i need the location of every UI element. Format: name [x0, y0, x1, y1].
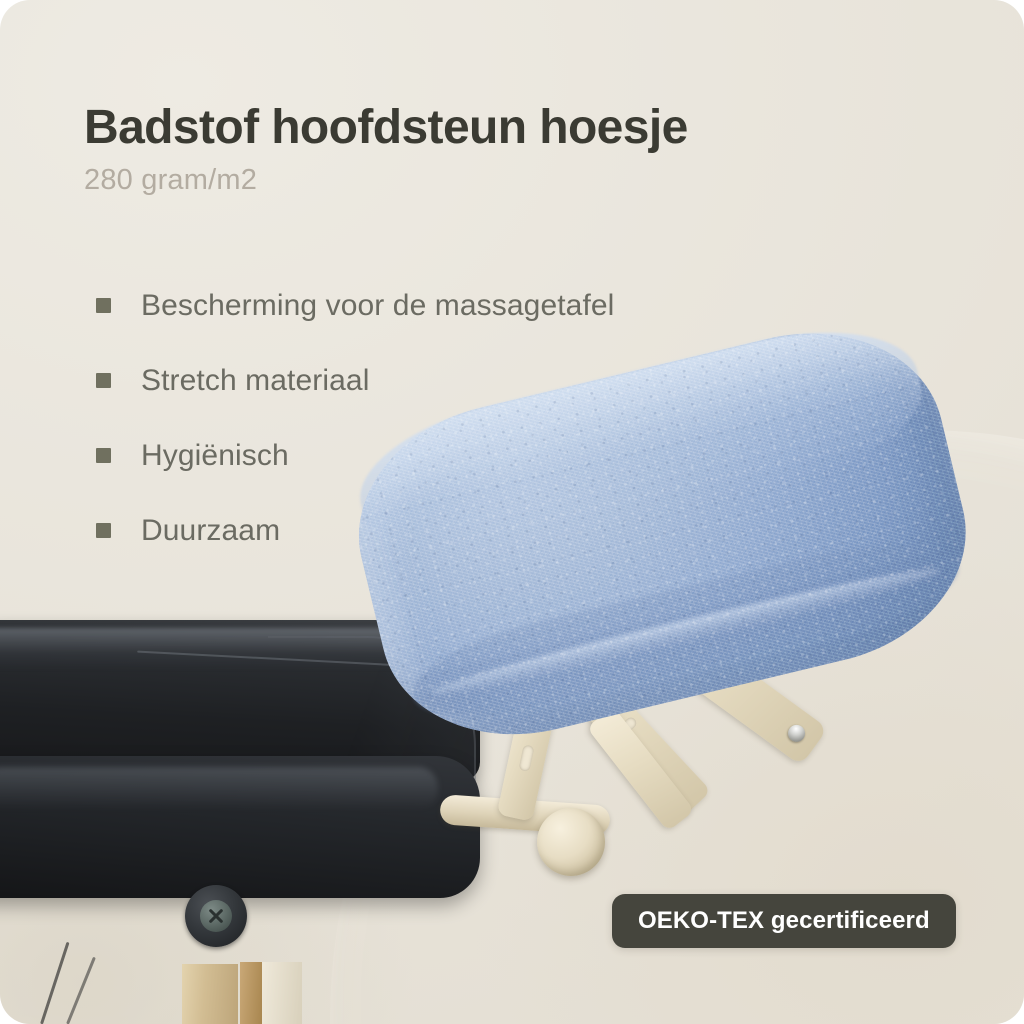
product-card: Badstof hoofdsteun hoesje 280 gram/m2 Be…	[0, 0, 1024, 1024]
feature-label: Duurzaam	[141, 516, 280, 546]
bracket-slot	[529, 695, 545, 723]
bracket-arm-lower	[587, 707, 695, 832]
massage-table-side	[0, 756, 480, 898]
bracket-arm-front	[497, 632, 571, 821]
certification-badge-label: OEKO-TEX gecertificeerd	[638, 907, 930, 935]
bracket-crossbar	[439, 794, 611, 836]
bracket-screw-icon	[564, 665, 588, 689]
bullet-square-icon	[96, 373, 111, 388]
table-side-highlight	[0, 767, 438, 810]
bullet-square-icon	[96, 448, 111, 463]
table-seam	[137, 650, 459, 669]
feature-label: Hygiënisch	[141, 441, 289, 471]
bullet-square-icon	[96, 298, 111, 313]
bolt-screw-head	[200, 900, 232, 932]
plate-groove	[491, 573, 797, 650]
table-bolt-icon	[185, 885, 247, 947]
massage-table-top	[0, 620, 480, 782]
header-block: Badstof hoofdsteun hoesje 280 gram/m2	[84, 104, 874, 197]
bracket-screw-icon	[785, 722, 809, 746]
page-subtitle: 280 gram/m2	[84, 165, 874, 197]
table-end-stitch	[268, 636, 476, 890]
wooden-leg	[240, 962, 262, 1024]
table-top-highlight	[0, 628, 449, 670]
support-cable	[66, 957, 96, 1024]
support-cable	[40, 942, 69, 1024]
wooden-leg	[182, 964, 238, 1024]
list-item: Stretch materiaal	[96, 343, 614, 418]
certification-badge: OEKO-TEX gecertificeerd	[612, 894, 956, 948]
list-item: Duurzaam	[96, 493, 614, 568]
list-item: Hygiënisch	[96, 418, 614, 493]
feature-list: Bescherming voor de massagetafel Stretch…	[96, 268, 614, 568]
page-title: Badstof hoofdsteun hoesje	[84, 104, 874, 153]
feature-label: Bescherming voor de massagetafel	[141, 291, 614, 321]
bullet-square-icon	[96, 523, 111, 538]
bracket-arm-middle	[541, 640, 711, 818]
feature-label: Stretch materiaal	[141, 366, 369, 396]
plate-groove	[512, 608, 755, 671]
bracket-slot	[518, 744, 534, 772]
bracket-slot	[612, 715, 639, 741]
cushion-edge-highlight	[428, 559, 943, 704]
list-item: Bescherming voor de massagetafel	[96, 268, 614, 343]
wooden-leg	[262, 962, 302, 1024]
bracket-adjust-knob	[537, 808, 605, 876]
bracket-arm-upper	[616, 594, 827, 765]
